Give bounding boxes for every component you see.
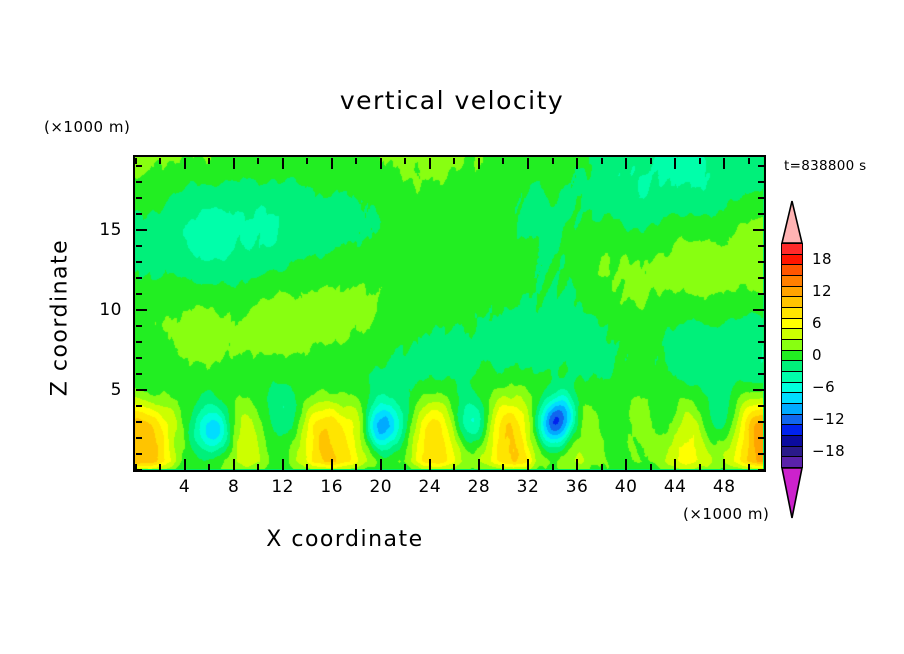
- y-tick-mark: [136, 405, 142, 407]
- x-tick-mark-top: [650, 158, 652, 164]
- colorbar-tick-label: −18: [812, 442, 845, 460]
- y-tick-mark-right: [758, 245, 764, 247]
- x-tick-mark: [380, 459, 382, 470]
- y-tick-label: 15: [78, 220, 122, 240]
- colorbar: [781, 243, 803, 467]
- y-tick-mark-right: [753, 389, 764, 391]
- x-tick-mark-top: [233, 158, 235, 169]
- y-tick-mark: [136, 325, 142, 327]
- x-tick-mark-top: [135, 158, 137, 164]
- x-tick-mark: [184, 459, 186, 470]
- y-tick-mark-right: [758, 437, 764, 439]
- y-tick-mark-right: [758, 405, 764, 407]
- y-tick-mark: [136, 453, 142, 455]
- y-tick-mark: [136, 373, 142, 375]
- y-tick-mark: [136, 229, 147, 231]
- x-tick-mark: [208, 464, 210, 470]
- x-tick-mark-top: [625, 158, 627, 169]
- x-tick-label: 24: [419, 477, 442, 497]
- x-tick-mark: [650, 464, 652, 470]
- x-tick-label: 20: [369, 477, 392, 497]
- x-tick-mark: [674, 459, 676, 470]
- x-tick-mark-top: [355, 158, 357, 164]
- colorbar-tick-label: 12: [812, 282, 832, 300]
- y-tick-mark-right: [758, 357, 764, 359]
- x-tick-label: 16: [320, 477, 343, 497]
- y-tick-mark-right: [758, 421, 764, 423]
- y-tick-mark: [136, 341, 142, 343]
- y-tick-mark-right: [758, 293, 764, 295]
- colorbar-tick-label: 18: [812, 250, 832, 268]
- y-axis-title: Z coordinate: [48, 218, 73, 418]
- x-tick-mark-top: [502, 158, 504, 164]
- x-axis-unit-label: (×1000 m): [683, 505, 769, 523]
- x-tick-mark: [159, 464, 161, 470]
- colorbar-tick-label: 6: [812, 314, 822, 332]
- x-tick-mark-top: [257, 158, 259, 164]
- x-tick-mark: [699, 464, 701, 470]
- vertical-velocity-field: [135, 157, 763, 469]
- x-tick-label: 36: [566, 477, 589, 497]
- x-tick-mark-top: [527, 158, 529, 169]
- colorbar-tick-label: −6: [812, 378, 835, 396]
- y-tick-mark: [136, 245, 142, 247]
- y-axis-unit-label: (×1000 m): [44, 118, 130, 136]
- x-tick-label: 12: [271, 477, 294, 497]
- y-tick-mark: [136, 213, 142, 215]
- y-tick-mark-right: [758, 197, 764, 199]
- y-tick-mark: [136, 277, 142, 279]
- x-tick-mark: [576, 459, 578, 470]
- x-tick-label: 44: [664, 477, 687, 497]
- x-tick-mark: [429, 459, 431, 470]
- x-tick-mark: [355, 464, 357, 470]
- y-tick-mark: [136, 389, 147, 391]
- y-tick-mark: [136, 437, 142, 439]
- y-tick-mark-right: [753, 309, 764, 311]
- x-tick-label: 8: [228, 477, 239, 497]
- x-tick-mark-top: [478, 158, 480, 169]
- x-axis-title: X coordinate: [0, 527, 690, 552]
- y-tick-mark-right: [758, 277, 764, 279]
- x-tick-mark-top: [674, 158, 676, 169]
- x-tick-mark: [723, 459, 725, 470]
- x-tick-mark: [306, 464, 308, 470]
- x-tick-mark: [502, 464, 504, 470]
- contour-plot-area: [133, 155, 766, 472]
- x-tick-mark-top: [699, 158, 701, 164]
- x-tick-mark: [625, 459, 627, 470]
- x-tick-mark: [331, 459, 333, 470]
- y-tick-mark: [136, 165, 142, 167]
- colorbar-tick-label: 0: [812, 346, 822, 364]
- y-tick-mark-right: [758, 261, 764, 263]
- x-tick-mark-top: [429, 158, 431, 169]
- y-tick-mark: [136, 197, 142, 199]
- y-tick-mark-right: [758, 213, 764, 215]
- x-tick-mark-top: [552, 158, 554, 164]
- colorbar-cap-bottom: [781, 467, 803, 519]
- colorbar-cap-top: [781, 200, 803, 244]
- x-tick-mark-top: [306, 158, 308, 164]
- x-tick-label: 40: [615, 477, 638, 497]
- x-tick-mark-top: [748, 158, 750, 164]
- y-tick-label: 10: [78, 300, 122, 320]
- y-tick-mark-right: [758, 341, 764, 343]
- x-tick-mark: [601, 464, 603, 470]
- x-tick-mark-top: [453, 158, 455, 164]
- x-tick-mark: [478, 459, 480, 470]
- y-tick-mark-right: [758, 453, 764, 455]
- colorbar-tick-label: −12: [812, 410, 845, 428]
- x-tick-mark: [257, 464, 259, 470]
- x-tick-label: 28: [468, 477, 491, 497]
- x-tick-label: 4: [179, 477, 190, 497]
- x-tick-mark: [552, 464, 554, 470]
- y-tick-mark: [136, 261, 142, 263]
- x-tick-mark: [453, 464, 455, 470]
- x-tick-mark-top: [601, 158, 603, 164]
- x-tick-mark: [282, 459, 284, 470]
- page-title: vertical velocity: [0, 86, 904, 115]
- time-stamp-annotation: t=838800 s: [784, 158, 866, 174]
- x-tick-mark-top: [404, 158, 406, 164]
- y-tick-mark: [136, 421, 142, 423]
- x-tick-label: 48: [713, 477, 736, 497]
- x-tick-mark: [748, 464, 750, 470]
- y-tick-mark: [136, 181, 142, 183]
- y-tick-mark-right: [758, 469, 764, 471]
- x-tick-label: 32: [517, 477, 540, 497]
- x-tick-mark: [527, 459, 529, 470]
- y-tick-mark-right: [758, 165, 764, 167]
- x-tick-mark-top: [331, 158, 333, 169]
- x-tick-mark-top: [380, 158, 382, 169]
- y-tick-mark-right: [758, 325, 764, 327]
- y-tick-mark: [136, 357, 142, 359]
- y-tick-mark: [136, 293, 142, 295]
- x-tick-mark-top: [184, 158, 186, 169]
- y-tick-mark-right: [758, 181, 764, 183]
- y-tick-mark-right: [753, 229, 764, 231]
- x-tick-mark-top: [282, 158, 284, 169]
- x-tick-mark-top: [208, 158, 210, 164]
- x-tick-mark-top: [723, 158, 725, 169]
- y-tick-mark: [136, 309, 147, 311]
- x-tick-mark-top: [576, 158, 578, 169]
- x-tick-mark: [404, 464, 406, 470]
- y-tick-mark: [136, 469, 142, 471]
- x-tick-mark: [233, 459, 235, 470]
- x-tick-mark-top: [159, 158, 161, 164]
- y-tick-mark-right: [758, 373, 764, 375]
- y-tick-label: 5: [78, 380, 122, 400]
